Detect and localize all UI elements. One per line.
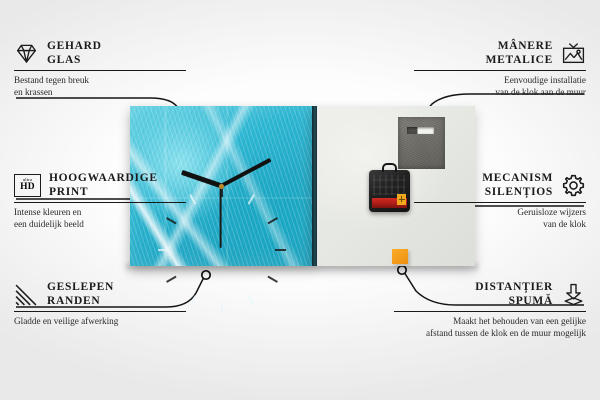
callout-desc: Geruisloze wijzers van de klok	[414, 207, 586, 230]
callout-desc: Eenvoudige installatie van de klok aan d…	[414, 75, 586, 98]
clock-mechanism-housing	[369, 170, 410, 212]
callout-rule	[414, 202, 586, 203]
metal-hanger-plate	[398, 117, 445, 169]
callout-distantier-spuma: DISTANȚIER SPUMĂ Maakt het behouden van …	[394, 281, 586, 339]
wall-hanging-frame-icon	[561, 41, 586, 66]
callout-rule	[14, 70, 186, 71]
callout-mecanism-silentios: MECANISM SILENȚIOS Geruisloze wijzers va…	[414, 172, 586, 230]
callout-desc: Maakt het behouden van een gelijke afsta…	[394, 316, 586, 339]
clock-second-hand	[220, 186, 222, 248]
mechanism-vent-grid	[373, 175, 406, 195]
callout-manere-metalice: MÂNERE METALICE Eenvoudige installatie v…	[414, 40, 586, 98]
hd-badge-big-text: HD	[20, 183, 35, 193]
foam-spacer-arrow-icon	[561, 282, 586, 307]
hanger-slot	[407, 127, 434, 134]
callout-title: GEHARD GLAS	[47, 40, 102, 67]
callout-rule	[394, 311, 586, 312]
callout-title: DISTANȚIER SPUMĂ	[475, 281, 553, 308]
callout-desc: Intense kleuren en een duidelijk beeld	[14, 207, 186, 230]
callout-gehard-glas: GEHARD GLAS Bestand tegen breuk en krass…	[14, 40, 186, 98]
battery-plus-terminal	[397, 194, 406, 205]
infographic-canvas: GEHARD GLAS Bestand tegen breuk en krass…	[0, 0, 600, 400]
callout-rule	[14, 202, 186, 203]
ultra-hd-badge-icon: ultra HD	[14, 174, 41, 197]
clock-center-cap	[219, 184, 224, 189]
foam-spacer-pad	[392, 249, 408, 264]
mechanism-hanging-hook	[382, 163, 397, 172]
callout-hoogwaardige-print: ultra HD HOOGWAARDIGE PRINT Intense kleu…	[14, 172, 186, 230]
callout-title: HOOGWAARDIGE PRINT	[49, 172, 158, 199]
callout-title: MÂNERE METALICE	[486, 40, 553, 67]
battery	[372, 198, 407, 208]
diamond-icon	[14, 41, 39, 66]
callout-desc: Gladde en veilige afwerking	[14, 316, 186, 328]
callout-rule	[14, 311, 186, 312]
beveled-edge-icon	[14, 282, 39, 307]
callout-rule	[414, 70, 586, 71]
callout-desc: Bestand tegen breuk en krassen	[14, 75, 186, 98]
callout-title: GESLEPEN RANDEN	[47, 281, 114, 308]
callout-geslepen-randen: GESLEPEN RANDEN Gladde en veilige afwerk…	[14, 281, 186, 328]
gear-icon	[561, 173, 586, 198]
callout-title: MECANISM SILENȚIOS	[482, 172, 553, 199]
